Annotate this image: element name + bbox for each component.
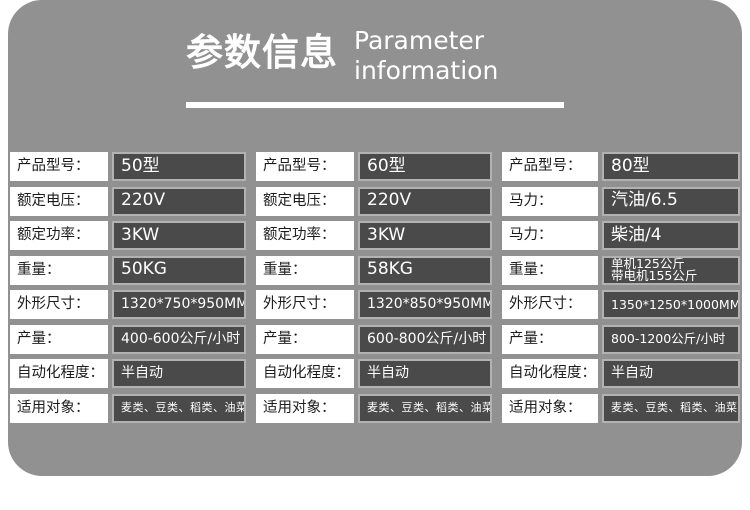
spec-value-line: 麦类、豆类、稻类、油菜 [611, 402, 738, 414]
spec-label: 重量： [502, 256, 598, 285]
spec-label: 适用对象： [502, 394, 598, 423]
spec-value: 58KG [358, 256, 492, 285]
title-divider [186, 102, 564, 108]
spec-label: 适用对象： [10, 394, 108, 423]
spec-value-line: 麦类、豆类、稻类、油菜 [367, 402, 490, 414]
spec-value-line: 1320*750*950MM [121, 297, 244, 312]
spec-value: 1320*750*950MM [112, 290, 246, 319]
table-row: 自动化程度：半自动 [10, 359, 246, 388]
table-row: 额定功率：3KW [256, 221, 492, 250]
table-row: 额定电压：220V [10, 187, 246, 216]
spec-value: 3KW [358, 221, 492, 250]
spec-value-line: 50KG [121, 261, 244, 279]
page-title-cn: 参数信息 [186, 30, 338, 76]
spec-label: 重量： [10, 256, 108, 285]
spec-value-line: 1350*1250*1000MM [611, 298, 738, 311]
spec-value-line: 半自动 [611, 366, 738, 381]
spec-value: 400-600公斤/小时 [112, 325, 246, 354]
spec-value: 1350*1250*1000MM [602, 290, 740, 319]
spec-value-line: 柴油/4 [611, 227, 738, 245]
table-row: 产量：400-600公斤/小时 [10, 325, 246, 354]
spec-value: 半自动 [602, 359, 740, 388]
spec-value: 麦类、豆类、稻类、油菜 [358, 394, 492, 423]
parameter-info-page: 参数信息 Parameter information 产品型号：50型额定电压：… [0, 0, 750, 510]
spec-label: 产品型号： [256, 152, 354, 181]
spec-label: 产品型号： [502, 152, 598, 181]
spec-value-line: 带电机155公斤 [611, 270, 738, 283]
spec-label: 自动化程度： [10, 359, 108, 388]
spec-label: 马力： [502, 221, 598, 250]
spec-value: 半自动 [358, 359, 492, 388]
table-row: 自动化程度：半自动 [256, 359, 492, 388]
spec-column-model-60: 产品型号：60型额定电压：220V额定功率：3KW重量：58KG外形尺寸：132… [256, 152, 492, 423]
table-row: 额定功率：3KW [10, 221, 246, 250]
spec-value-line: 80型 [611, 158, 738, 176]
spec-table: 产品型号：50型额定电压：220V额定功率：3KW重量：50KG外形尺寸：132… [10, 152, 740, 423]
spec-value-line: 汽油/6.5 [611, 192, 738, 210]
page-title-en-line2: information [354, 56, 498, 86]
spec-value: 柴油/4 [602, 221, 740, 250]
spec-value-line: 600-800公斤/小时 [367, 332, 490, 347]
spec-value: 60型 [358, 152, 492, 181]
spec-value-line: 半自动 [121, 366, 244, 381]
spec-column-model-80: 产品型号：80型马力：汽油/6.5马力：柴油/4重量：单机125公斤带电机155… [502, 152, 740, 423]
spec-value: 600-800公斤/小时 [358, 325, 492, 354]
spec-value: 220V [112, 187, 246, 216]
spec-label: 产品型号： [10, 152, 108, 181]
spec-label: 自动化程度： [502, 359, 598, 388]
spec-label: 额定功率： [256, 221, 354, 250]
table-row: 产量：800-1200公斤/小时 [502, 325, 740, 354]
spec-value-line: 800-1200公斤/小时 [611, 332, 738, 345]
spec-value: 单机125公斤带电机155公斤 [602, 256, 740, 285]
page-header: 参数信息 Parameter information [186, 22, 586, 102]
spec-label: 额定功率： [10, 221, 108, 250]
table-row: 适用对象：麦类、豆类、稻类、油菜 [10, 394, 246, 423]
spec-value-line: 220V [121, 192, 244, 210]
spec-value-line: 60型 [367, 158, 490, 176]
page-title-en: Parameter information [354, 26, 498, 86]
spec-value-line: 3KW [367, 227, 490, 245]
spec-value: 3KW [112, 221, 246, 250]
table-row: 产品型号：60型 [256, 152, 492, 181]
spec-value: 50型 [112, 152, 246, 181]
spec-label: 外形尺寸： [256, 290, 354, 319]
spec-label: 产量： [502, 325, 598, 354]
table-row: 重量：50KG [10, 256, 246, 285]
spec-label: 额定电压： [256, 187, 354, 216]
table-row: 产量：600-800公斤/小时 [256, 325, 492, 354]
table-row: 外形尺寸：1350*1250*1000MM [502, 290, 740, 319]
spec-label: 额定电压： [10, 187, 108, 216]
spec-value: 1320*850*950MM [358, 290, 492, 319]
spec-value-line: 3KW [121, 227, 244, 245]
spec-value-line: 58KG [367, 261, 490, 279]
table-row: 外形尺寸：1320*750*950MM [10, 290, 246, 319]
table-row: 自动化程度：半自动 [502, 359, 740, 388]
spec-value-line: 1320*850*950MM [367, 297, 490, 312]
spec-value-line: 半自动 [367, 366, 490, 381]
spec-value: 麦类、豆类、稻类、油菜 [112, 394, 246, 423]
spec-label: 外形尺寸： [10, 290, 108, 319]
table-row: 重量：单机125公斤带电机155公斤 [502, 256, 740, 285]
table-row: 产品型号：80型 [502, 152, 740, 181]
table-row: 马力：柴油/4 [502, 221, 740, 250]
spec-label: 产量： [256, 325, 354, 354]
spec-value: 半自动 [112, 359, 246, 388]
spec-value-line: 麦类、豆类、稻类、油菜 [121, 402, 244, 414]
spec-value: 800-1200公斤/小时 [602, 325, 740, 354]
spec-value: 50KG [112, 256, 246, 285]
spec-label: 产量： [10, 325, 108, 354]
spec-value: 麦类、豆类、稻类、油菜 [602, 394, 740, 423]
table-row: 产品型号：50型 [10, 152, 246, 181]
spec-value: 80型 [602, 152, 740, 181]
spec-value-line: 400-600公斤/小时 [121, 332, 244, 347]
spec-value-line: 50型 [121, 158, 244, 176]
spec-label: 适用对象： [256, 394, 354, 423]
table-row: 额定电压：220V [256, 187, 492, 216]
spec-value: 汽油/6.5 [602, 187, 740, 216]
spec-label: 自动化程度： [256, 359, 354, 388]
spec-label: 重量： [256, 256, 354, 285]
spec-column-model-50: 产品型号：50型额定电压：220V额定功率：3KW重量：50KG外形尺寸：132… [10, 152, 246, 423]
table-row: 马力：汽油/6.5 [502, 187, 740, 216]
page-title-en-line1: Parameter [354, 26, 498, 56]
spec-label: 外形尺寸： [502, 290, 598, 319]
spec-label: 马力： [502, 187, 598, 216]
spec-value-line: 220V [367, 192, 490, 210]
spec-value: 220V [358, 187, 492, 216]
table-row: 适用对象：麦类、豆类、稻类、油菜 [502, 394, 740, 423]
table-row: 适用对象：麦类、豆类、稻类、油菜 [256, 394, 492, 423]
table-row: 重量：58KG [256, 256, 492, 285]
table-row: 外形尺寸：1320*850*950MM [256, 290, 492, 319]
